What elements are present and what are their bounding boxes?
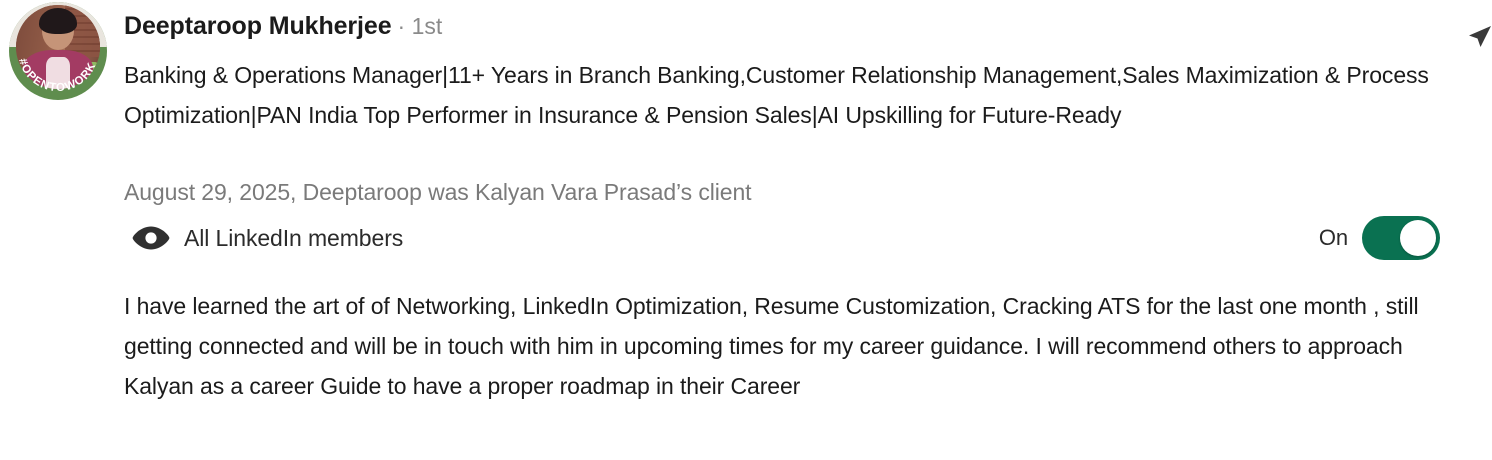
avatar-photo xyxy=(16,5,100,89)
eye-icon xyxy=(132,225,170,251)
visibility-toggle-switch[interactable] xyxy=(1362,216,1440,260)
toggle-state-label: On xyxy=(1319,225,1348,251)
connection-degree: · 1st xyxy=(398,13,443,39)
photo-shirt xyxy=(46,57,70,89)
author-headline: Banking & Operations Manager|11+ Years i… xyxy=(124,55,1454,135)
recommendation-card: #OPENTOWORK Deeptaroop Mukherjee· 1st Ba… xyxy=(0,0,1492,460)
photo-hair xyxy=(39,8,78,33)
toggle-knob xyxy=(1400,220,1436,256)
recommendation-body: I have learned the art of of Networking,… xyxy=(124,286,1454,406)
visibility-label: All LinkedIn members xyxy=(184,225,403,252)
visibility-control[interactable]: All LinkedIn members xyxy=(132,216,403,260)
recommendation-byline: August 29, 2025, Deeptaroop was Kalyan V… xyxy=(124,176,751,208)
avatar[interactable]: #OPENTOWORK xyxy=(9,2,107,100)
mouse-cursor-icon xyxy=(1461,24,1492,58)
visibility-toggle-group[interactable]: On xyxy=(1319,216,1440,260)
visibility-row: All LinkedIn members On xyxy=(124,216,1464,260)
author-row: Deeptaroop Mukherjee· 1st xyxy=(124,12,442,41)
author-name[interactable]: Deeptaroop Mukherjee xyxy=(124,12,392,40)
